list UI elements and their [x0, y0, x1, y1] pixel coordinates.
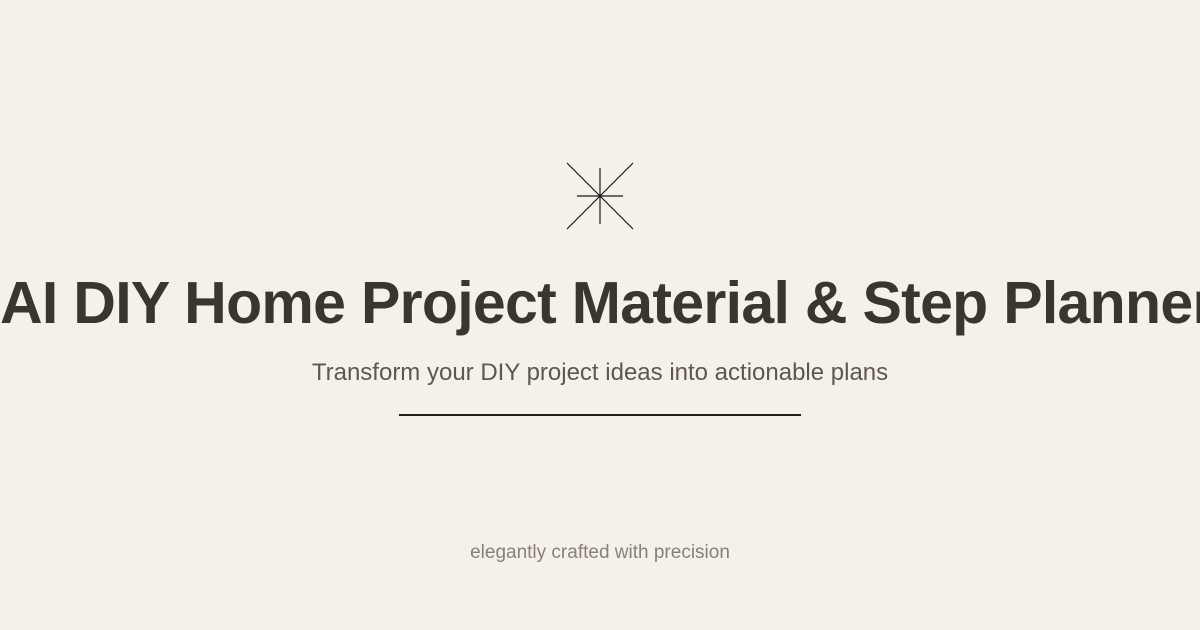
emblem-container: [0, 156, 1200, 236]
asterisk-starburst-icon: [560, 156, 640, 236]
page-subtitle: Transform your DIY project ideas into ac…: [0, 358, 1200, 388]
title-divider-rule: [399, 414, 801, 416]
page-title: AI DIY Home Project Material & Step Plan…: [0, 270, 1200, 336]
divider-container: [0, 414, 1200, 416]
hero-banner: AI DIY Home Project Material & Step Plan…: [0, 0, 1200, 630]
footer-tagline: elegantly crafted with precision: [0, 541, 1200, 565]
